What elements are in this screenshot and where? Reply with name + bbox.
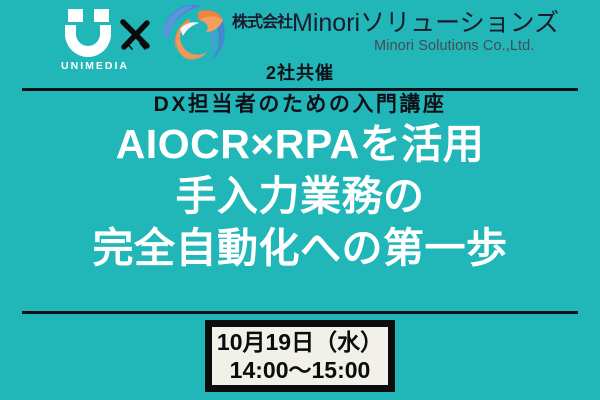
letter-u-icon xyxy=(65,25,111,57)
kicker-co-hosted: 2社共催 xyxy=(0,62,600,84)
umlaut-dot-left-icon xyxy=(68,9,83,22)
minori-company-name-en: Minori Solutions Co.,Ltd. xyxy=(374,38,534,55)
kicker-subtitle: DX担当者のための入門講座 xyxy=(0,92,600,118)
title-line-1: AIOCR×RPAを活用 xyxy=(0,118,600,170)
minori-company-name: 株式会社Minoriソリューションズ xyxy=(232,8,559,38)
cross-multiply-icon xyxy=(118,18,152,52)
title-line-2: 手入力業務の xyxy=(0,170,600,222)
schedule-date: 10月19日（水） xyxy=(217,328,383,356)
title-line-3: 完全自動化への第一歩 xyxy=(0,222,600,274)
schedule-time: 14:00〜15:00 xyxy=(230,356,371,384)
minori-company-prefix: 株式会社 xyxy=(232,14,292,31)
schedule-box: 10月19日（水） 14:00〜15:00 xyxy=(205,320,395,392)
divider-top xyxy=(22,88,578,91)
seminar-banner: UNIMEDIA xyxy=(0,0,600,400)
divider-bottom xyxy=(22,311,578,314)
minori-company-name-text: Minoriソリューションズ xyxy=(292,9,559,37)
umlaut-dot-right-icon xyxy=(94,9,109,22)
main-title: AIOCR×RPAを活用 手入力業務の 完全自動化への第一歩 xyxy=(0,118,600,274)
minori-logo-mark-icon xyxy=(158,2,230,66)
